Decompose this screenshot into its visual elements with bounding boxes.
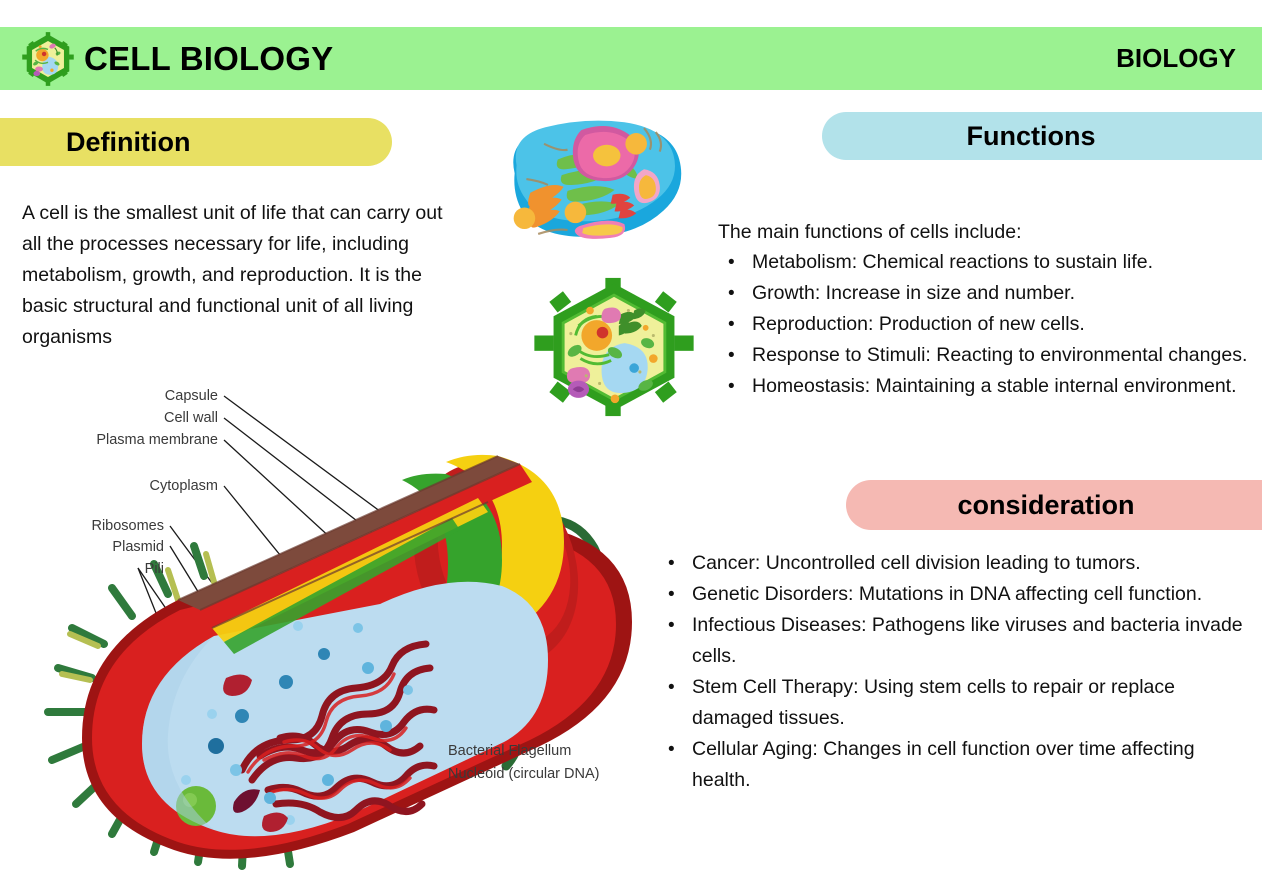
list-item: Reproduction: Production of new cells. — [718, 309, 1262, 340]
label-ribosomes: Ribosomes — [91, 518, 164, 534]
label-cell-wall: Cell wall — [164, 410, 218, 426]
definition-heading-pill: Definition — [0, 118, 392, 166]
header-banner: CELL BIOLOGY BIOLOGY — [0, 27, 1262, 90]
page-title: CELL BIOLOGY — [84, 40, 333, 78]
list-item: Cancer: Uncontrolled cell division leadi… — [658, 548, 1258, 579]
list-item: Metabolism: Chemical reactions to sustai… — [718, 247, 1262, 278]
label-nucleoid: Nucleoid (circular DNA) — [448, 766, 599, 782]
consideration-list: Cancer: Uncontrolled cell division leadi… — [658, 548, 1258, 796]
label-pili: Pili — [145, 561, 164, 577]
list-item: Infectious Diseases: Pathogens like viru… — [658, 610, 1258, 672]
label-capsule: Capsule — [165, 388, 218, 404]
list-item: Homeostasis: Maintaining a stable intern… — [718, 371, 1262, 402]
functions-list: Metabolism: Chemical reactions to sustai… — [718, 247, 1262, 402]
label-cytoplasm: Cytoplasm — [150, 478, 219, 494]
subject-label: BIOLOGY — [1116, 43, 1236, 74]
functions-heading-label: Functions — [967, 121, 1096, 152]
infographic-page: CELL BIOLOGY BIOLOGY Definition A cell i… — [0, 0, 1262, 892]
functions-intro-text: The main functions of cells include: — [718, 217, 1258, 248]
consideration-heading-pill: consideration — [846, 480, 1262, 530]
label-bacterial-flagellum: Bacterial Flagellum — [448, 743, 571, 759]
list-item: Stem Cell Therapy: Using stem cells to r… — [658, 672, 1258, 734]
definition-body-text: A cell is the smallest unit of life that… — [22, 198, 454, 353]
list-item: Cellular Aging: Changes in cell function… — [658, 734, 1258, 796]
definition-heading-label: Definition — [66, 127, 190, 158]
consideration-heading-label: consideration — [957, 490, 1134, 521]
list-item: Response to Stimuli: Reacting to environ… — [718, 340, 1262, 371]
label-plasma-membrane: Plasma membrane — [96, 432, 218, 448]
list-item: Growth: Increase in size and number. — [718, 278, 1262, 309]
list-item: Genetic Disorders: Mutations in DNA affe… — [658, 579, 1258, 610]
functions-heading-pill: Functions — [822, 112, 1262, 160]
animal-cell-illustration — [497, 108, 693, 258]
bacterial-cell-diagram: Capsule Cell wall Plasma membrane Cytopl… — [28, 378, 638, 870]
plant-cell-icon — [20, 31, 76, 87]
label-plasmid: Plasmid — [112, 539, 164, 555]
